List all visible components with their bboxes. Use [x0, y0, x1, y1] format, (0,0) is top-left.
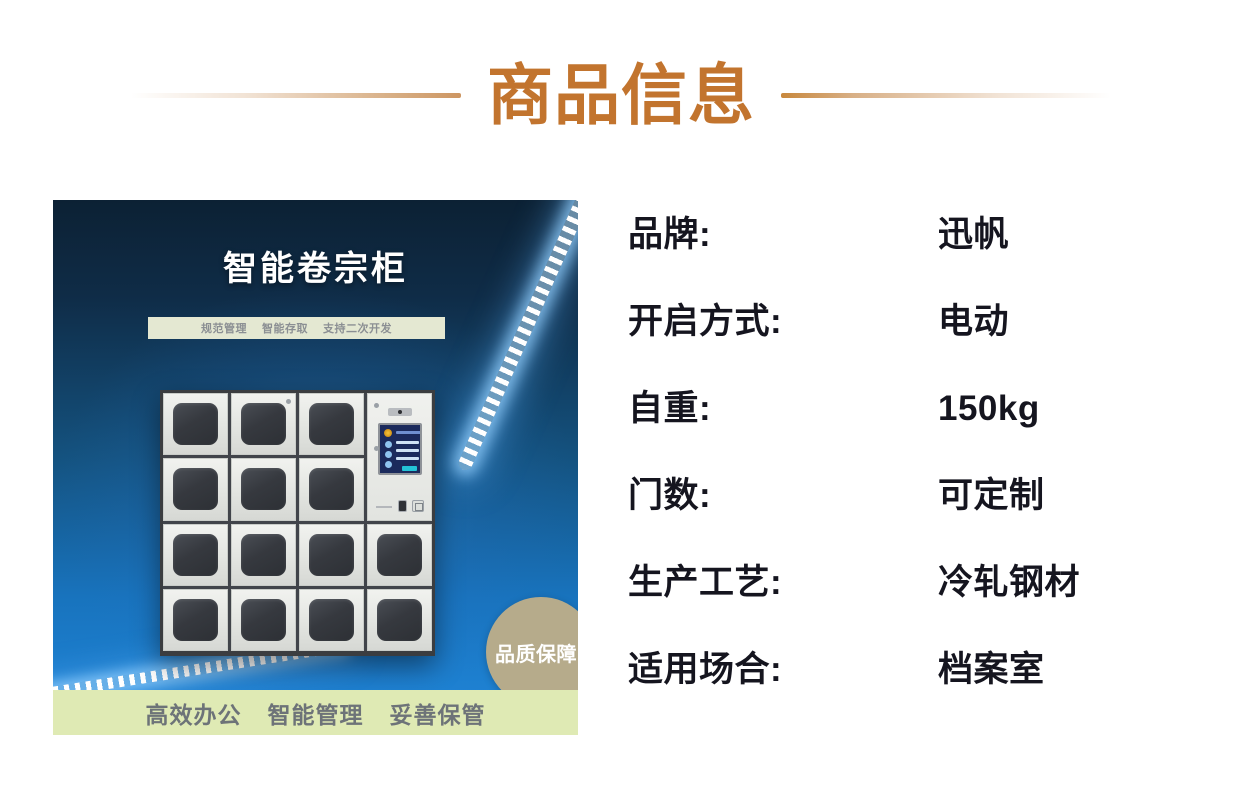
locker-door — [231, 458, 296, 520]
spec-row: 生产工艺: 冷轧钢材 — [628, 554, 1188, 641]
locker-window — [377, 534, 422, 576]
spec-row: 品牌: 迅帆 — [628, 206, 1188, 293]
screen-title-bar — [396, 431, 421, 434]
spec-row: 自重: 150kg — [628, 380, 1188, 467]
feature-tag-1: 规范管理 — [201, 320, 247, 336]
screen-field-row — [396, 441, 419, 444]
product-footer-bar: 高效办公 智能管理 妥善保管 — [53, 690, 578, 735]
locker-door — [299, 524, 364, 586]
locker-window — [173, 403, 218, 445]
panel-knob-icon — [374, 446, 379, 451]
locker-window — [377, 599, 422, 641]
emblem-icon — [384, 429, 392, 437]
locker-window — [309, 403, 354, 445]
locker-window — [309, 468, 354, 510]
header-rule-left — [131, 93, 461, 98]
screen-confirm-button[interactable] — [402, 466, 417, 471]
locker-door — [367, 524, 432, 586]
spec-label: 品牌: — [628, 206, 938, 257]
spec-value: 冷轧钢材 — [938, 554, 1080, 605]
spec-row: 门数: 可定制 — [628, 467, 1188, 554]
locker-grid — [163, 393, 432, 651]
fingerprint-reader-icon[interactable] — [398, 500, 407, 512]
locker-knob-icon — [286, 399, 291, 404]
spec-value: 150kg — [938, 389, 1040, 429]
product-image-headline: 智能卷宗柜 — [53, 241, 578, 290]
spec-row: 开启方式: 电动 — [628, 293, 1188, 380]
locker-window — [241, 534, 286, 576]
product-info-page: 商品信息 智能卷宗柜 规范管理 智能存取 支持二次开发 — [0, 0, 1242, 788]
locker-door — [163, 393, 228, 455]
card-reader-icon[interactable] — [412, 500, 424, 512]
footer-tag-1: 高效办公 — [146, 696, 242, 730]
locker-door — [163, 524, 228, 586]
product-feature-bar: 规范管理 智能存取 支持二次开发 — [148, 317, 445, 339]
page-title: 商品信息 — [487, 62, 755, 128]
page-header: 商品信息 — [0, 52, 1242, 138]
spec-value: 可定制 — [938, 467, 1045, 518]
product-image: 智能卷宗柜 规范管理 智能存取 支持二次开发 — [53, 200, 578, 735]
locker-window — [241, 403, 286, 445]
locker-window — [309, 599, 354, 641]
spec-value: 迅帆 — [938, 206, 1009, 257]
camera-icon — [388, 408, 412, 416]
locker-window — [241, 468, 286, 510]
control-panel — [367, 393, 432, 521]
spec-value: 档案室 — [938, 641, 1045, 692]
screen-field-row — [396, 449, 419, 452]
product-spec-list: 品牌: 迅帆 开启方式: 电动 自重: 150kg 门数: 可定制 生产工艺: … — [628, 206, 1188, 728]
locker-door — [231, 524, 296, 586]
locker-door — [367, 589, 432, 651]
spec-label: 开启方式: — [628, 293, 938, 344]
header-rule-right — [781, 93, 1111, 98]
locker-window — [173, 534, 218, 576]
receipt-slot-icon — [376, 506, 392, 508]
spec-row: 适用场合: 档案室 — [628, 641, 1188, 728]
locker-window — [309, 534, 354, 576]
touchscreen-display[interactable] — [378, 423, 422, 475]
spec-label: 适用场合: — [628, 641, 938, 692]
spec-label: 门数: — [628, 467, 938, 518]
spec-label: 生产工艺: — [628, 554, 938, 605]
spec-label: 自重: — [628, 380, 938, 431]
quality-badge-label: 品质保障 — [495, 638, 577, 667]
locker-window — [173, 468, 218, 510]
screen-avatar-icon — [385, 451, 392, 458]
locker-door — [299, 589, 364, 651]
locker-door — [299, 458, 364, 520]
locker-door — [299, 393, 364, 455]
spec-value: 电动 — [938, 293, 1009, 344]
footer-tag-3: 妥善保管 — [390, 696, 486, 730]
smart-locker-cabinet — [160, 390, 435, 656]
locker-window — [173, 599, 218, 641]
footer-tag-2: 智能管理 — [268, 696, 364, 730]
panel-knob-icon — [374, 403, 379, 408]
screen-avatar-icon — [385, 461, 392, 468]
locker-door — [231, 393, 296, 455]
locker-window — [241, 599, 286, 641]
locker-door — [231, 589, 296, 651]
feature-tag-3: 支持二次开发 — [323, 320, 392, 336]
screen-field-row — [396, 457, 419, 460]
feature-tag-2: 智能存取 — [262, 320, 308, 336]
locker-door — [163, 589, 228, 651]
screen-avatar-icon — [385, 441, 392, 448]
locker-door — [163, 458, 228, 520]
